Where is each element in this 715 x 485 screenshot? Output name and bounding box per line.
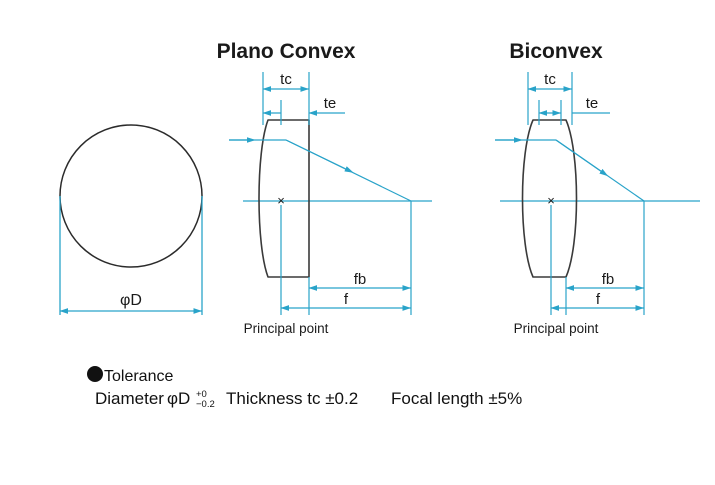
- tc-label-biconvex: tc: [544, 71, 556, 88]
- refracted-ray-arrow-biconvex: [556, 140, 605, 174]
- panel-title-plano-convex: Plano Convex: [217, 40, 356, 63]
- tolerance-diameter-symbol: φD: [167, 389, 190, 408]
- refracted-ray-arrow-plano: [286, 140, 350, 171]
- lens-specification-diagram: φD Plano Convex × tc: [0, 0, 715, 485]
- tolerance-block: Tolerance Diameter φD +0 −0.2 Thickness …: [87, 366, 522, 410]
- tolerance-diameter-label: Diameter: [95, 389, 164, 408]
- tolerance-thickness: Thickness tc ±0.2: [226, 389, 358, 408]
- te-label-plano: te: [324, 95, 337, 112]
- panel-title-biconvex: Biconvex: [509, 40, 603, 63]
- principal-point-caption-plano: Principal point: [244, 321, 329, 336]
- tc-label-plano: tc: [280, 71, 292, 88]
- panel-plano-convex: Plano Convex × tc te: [217, 40, 432, 336]
- fb-label-plano: fb: [354, 271, 367, 288]
- lens-aperture-circle: [60, 125, 202, 267]
- te-label-biconvex: te: [586, 95, 599, 112]
- aperture-diameter-label: φD: [120, 292, 142, 309]
- tolerance-heading: Tolerance: [104, 368, 173, 385]
- fb-label-biconvex: fb: [602, 271, 615, 288]
- tolerance-diameter-lower: −0.2: [196, 399, 215, 410]
- f-label-plano: f: [344, 291, 349, 308]
- tolerance-focal-length: Focal length ±5%: [391, 389, 522, 408]
- diagram-canvas: φD Plano Convex × tc: [0, 0, 715, 485]
- panel-biconvex: Biconvex × tc te: [495, 40, 700, 336]
- aperture-panel: φD: [60, 125, 202, 315]
- bullet-icon: [87, 366, 103, 382]
- principal-point-caption-biconvex: Principal point: [514, 321, 599, 336]
- f-label-biconvex: f: [596, 291, 601, 308]
